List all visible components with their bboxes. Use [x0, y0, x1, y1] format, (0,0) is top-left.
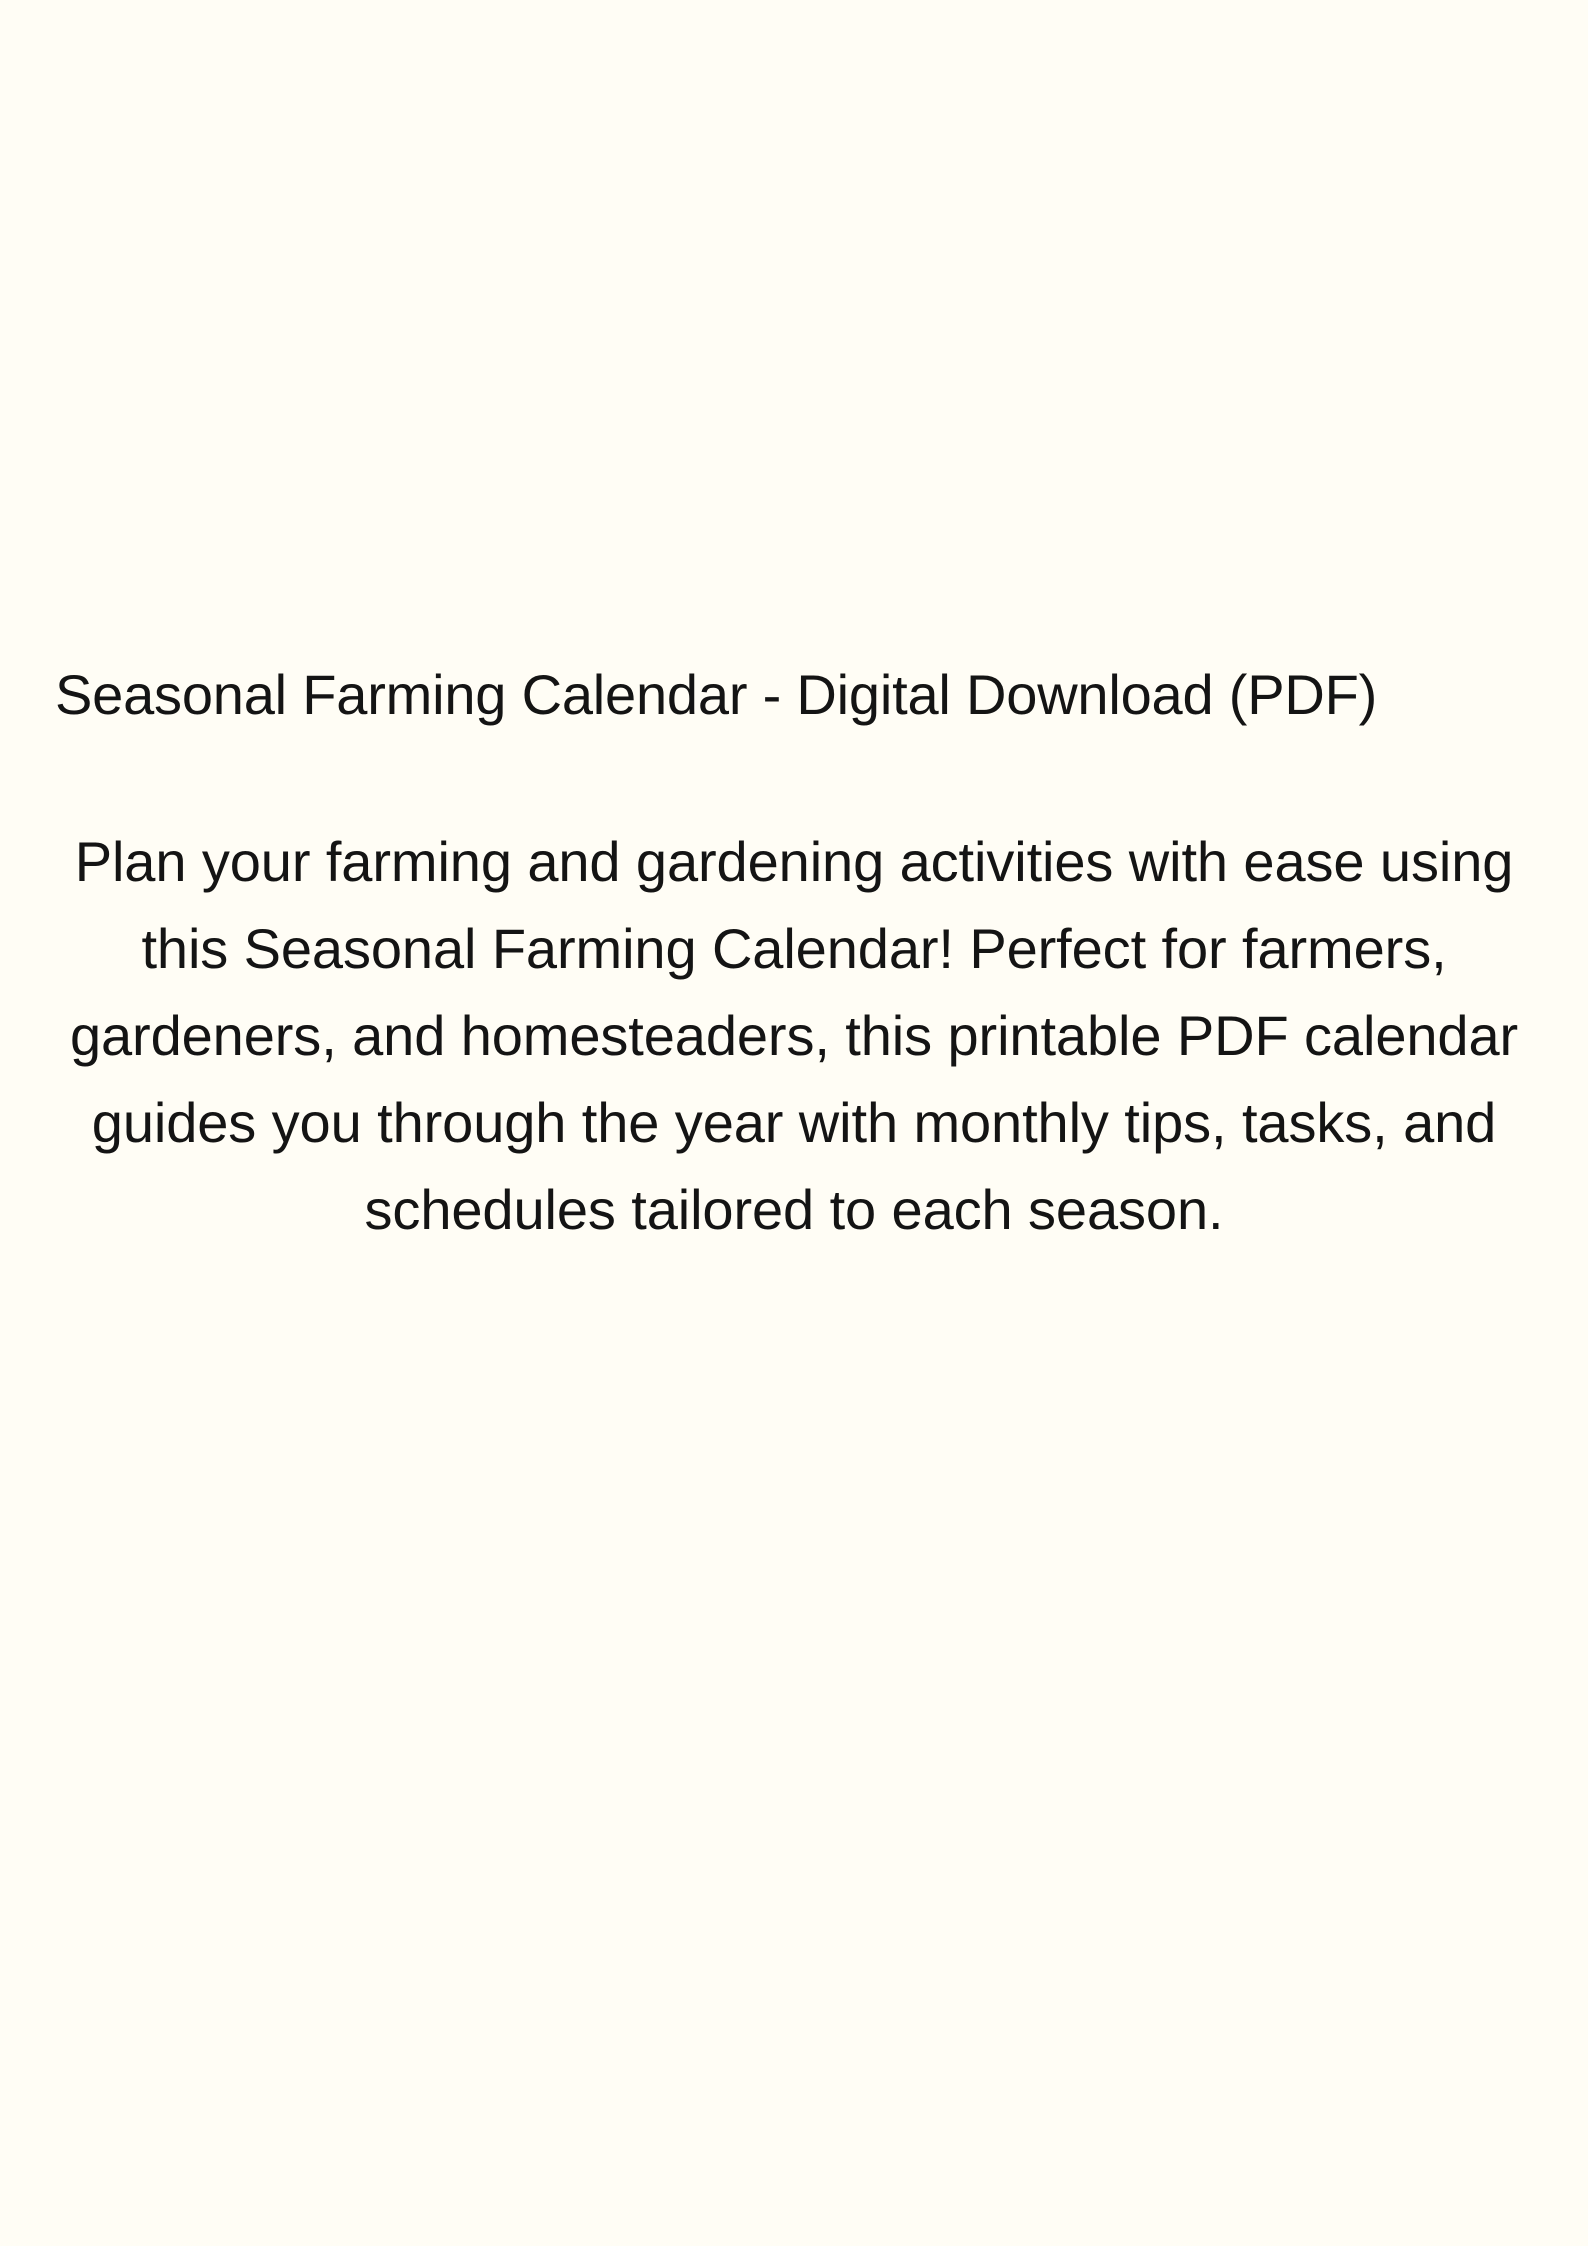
document-content: Seasonal Farming Calendar - Digital Down…: [55, 660, 1533, 1253]
product-description: Plan your farming and gardening activiti…: [55, 818, 1533, 1253]
document-page: Seasonal Farming Calendar - Digital Down…: [0, 0, 1588, 2246]
title-description-spacer: [55, 731, 1533, 818]
page-title: Seasonal Farming Calendar - Digital Down…: [55, 660, 1533, 731]
